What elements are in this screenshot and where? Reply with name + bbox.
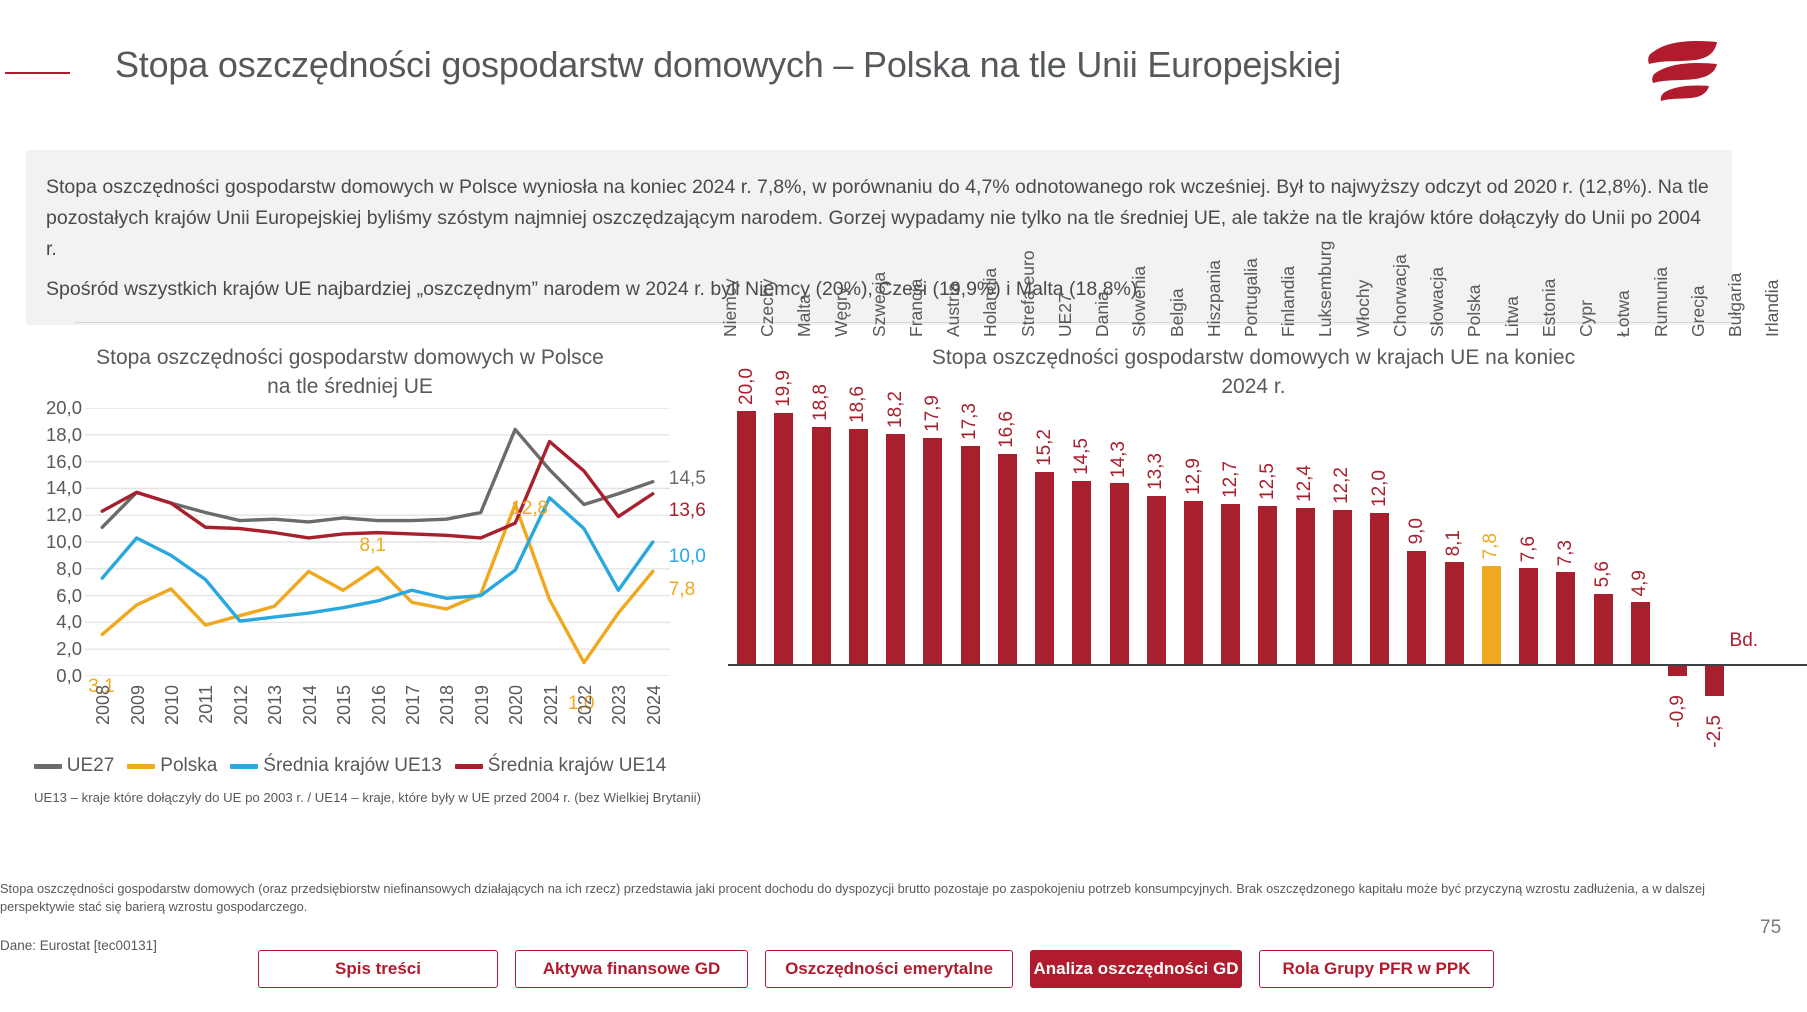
legend-item-0[interactable]: UE27 [34, 755, 115, 777]
bar-rect [1594, 594, 1613, 665]
right-x-tick-luksemburg: Luksemburg [1315, 241, 1336, 337]
right-x-tick-cypr: Cypr [1576, 300, 1597, 337]
bar-value-label: 7,3 [1555, 540, 1577, 566]
left-data-label-7-8: 7,8 [669, 579, 695, 601]
bar-rect [1258, 506, 1277, 664]
nav-button-analiza-oszczędności-gd[interactable]: Analiza oszczędności GD [1030, 950, 1242, 988]
nav-button-aktywa-finansowe-gd[interactable]: Aktywa finansowe GD [515, 950, 748, 988]
right-x-tick-grecja: Grecja [1688, 285, 1709, 337]
legend-item-2[interactable]: Średnia krajów UE13 [230, 755, 441, 777]
right-x-tick-włochy: Włochy [1353, 280, 1374, 337]
bar-rect [1668, 664, 1687, 675]
left-chart-y-axis: 20,018,016,014,012,010,08,06,04,02,00,0 [20, 398, 82, 688]
left-y-tick-8-0: 8,0 [56, 558, 82, 580]
right-x-tick-portugalia: Portugalia [1241, 258, 1262, 337]
left-x-tick-2022: 2022 [575, 685, 596, 725]
right-x-tick-holandia: Holandia [980, 268, 1001, 337]
left-x-tick-2023: 2023 [609, 685, 630, 725]
bar-rect [1556, 572, 1575, 664]
right-x-tick-niemcy: Niemcy [720, 279, 741, 337]
left-x-tick-2018: 2018 [437, 685, 458, 725]
left-y-tick-18-0: 18,0 [46, 424, 82, 446]
left-x-tick-2015: 2015 [334, 685, 355, 725]
bar-rect [1445, 562, 1464, 665]
right-x-tick-dania: Dania [1092, 291, 1113, 337]
left-y-tick-12-0: 12,0 [46, 504, 82, 526]
summary-paragraph-1: Stopa oszczędności gospodarstw domowych … [46, 172, 1716, 265]
right-x-tick-słowenia: Słowenia [1129, 266, 1150, 337]
right-x-tick-estonia: Estonia [1539, 279, 1560, 337]
bar-value-label: 8,1 [1443, 530, 1465, 556]
bar-chart-eu-countries: Stopa oszczędności gospodarstw domowych … [700, 335, 1807, 805]
left-y-tick-16-0: 16,0 [46, 451, 82, 473]
right-x-tick-austria: Austria [943, 283, 964, 337]
bar-rect [961, 446, 980, 665]
bar-value-label: -2,5 [1704, 715, 1726, 748]
right-x-tick-łotwa: Łotwa [1613, 290, 1634, 337]
left-x-tick-2013: 2013 [265, 685, 286, 725]
bar-value-label: 12,7 [1220, 461, 1242, 498]
left-y-tick-4-0: 4,0 [56, 611, 82, 633]
source-note: Dane: Eurostat [tec00131] [0, 938, 157, 953]
left-x-tick-2014: 2014 [300, 685, 321, 725]
left-chart-title: Stopa oszczędności gospodarstw domowych … [0, 335, 700, 401]
left-x-tick-2024: 2024 [644, 685, 665, 725]
nav-button-spis-treści[interactable]: Spis treści [258, 950, 498, 988]
right-chart-no-data-label: Bd. [1730, 630, 1759, 652]
bar-rect [1110, 483, 1129, 664]
left-x-tick-2011: 2011 [196, 685, 217, 724]
right-x-tick-słowacja: Słowacja [1427, 267, 1448, 337]
right-x-tick-litwa: Litwa [1502, 296, 1523, 337]
right-x-tick-węgry: Węgry [831, 286, 852, 337]
right-x-tick-francja: Francja [906, 279, 927, 337]
left-x-tick-2020: 2020 [506, 685, 527, 725]
right-x-tick-ue27: UE27 [1055, 293, 1076, 337]
left-x-tick-2019: 2019 [472, 685, 493, 725]
legend-swatch-icon [455, 764, 483, 769]
bar-value-label: 12,2 [1331, 467, 1353, 504]
legend-item-3[interactable]: Średnia krajów UE14 [455, 755, 666, 777]
summary-divider [74, 322, 1734, 323]
right-x-tick-szwecja: Szwecja [869, 272, 890, 337]
bar-rect [1035, 472, 1054, 664]
page-number: 75 [1760, 917, 1781, 939]
bar-rect [1407, 551, 1426, 665]
right-x-tick-irlandia: Irlandia [1762, 280, 1783, 337]
bar-value-label: 5,6 [1592, 561, 1614, 587]
bottom-navigation: Spis treściAktywa finansowe GDOszczędnoś… [258, 950, 1548, 988]
left-chart-footnote: UE13 – kraje które dołączyły do UE po 20… [34, 790, 714, 805]
legend-item-1[interactable]: Polska [127, 755, 217, 777]
bar-value-label: 7,8 [1480, 533, 1502, 559]
right-x-tick-czechy: Czechy [757, 279, 778, 337]
bar-rect [1631, 602, 1650, 664]
legend-label: Polska [160, 755, 217, 777]
left-data-label-8-1: 8,1 [360, 535, 386, 557]
page-header: Stopa oszczędności gospodarstw domowych … [0, 0, 1807, 140]
left-x-tick-2010: 2010 [162, 685, 183, 725]
bar-rect [1184, 501, 1203, 664]
bar-value-label: 12,5 [1257, 463, 1279, 500]
left-x-tick-2008: 2008 [93, 685, 114, 725]
bar-value-label: 9,0 [1406, 518, 1428, 544]
left-chart-legend: UE27PolskaŚrednia krajów UE13Średnia kra… [0, 755, 700, 777]
left-y-tick-6-0: 6,0 [56, 585, 82, 607]
right-chart-zero-axis [728, 664, 1807, 666]
left-chart-plot-area: 3,18,112,81,07,814,513,610,0 [85, 408, 670, 676]
bar-rect [1296, 508, 1315, 665]
bar-value-label: -0,9 [1667, 695, 1689, 728]
right-x-tick-belgia: Belgia [1167, 288, 1188, 337]
left-chart-x-axis: 2008200920102011201220132014201520162017… [85, 683, 670, 759]
right-x-tick-strefa-euro: Strefa euro [1018, 250, 1039, 337]
right-chart-x-axis: NiemcyCzechyMaltaWęgrySzwecjaFrancjaAust… [714, 335, 1807, 465]
left-y-tick-14-0: 14,0 [46, 477, 82, 499]
bar-rect [1482, 566, 1501, 665]
bar-rect [1333, 510, 1352, 664]
right-x-tick-hiszpania: Hiszpania [1204, 260, 1225, 337]
bar-rect [1072, 481, 1091, 665]
bar-rect [1519, 568, 1538, 664]
bar-rect [1221, 504, 1240, 665]
left-y-tick-0-0: 0,0 [56, 665, 82, 687]
left-x-tick-2012: 2012 [231, 685, 252, 725]
bar-value-label: 12,0 [1369, 470, 1391, 507]
right-x-tick-polska: Polska [1464, 284, 1485, 337]
legend-swatch-icon [230, 764, 258, 769]
right-x-tick-finlandia: Finlandia [1278, 266, 1299, 337]
bar-rect [886, 434, 905, 664]
left-y-tick-10-0: 10,0 [46, 531, 82, 553]
nav-button-oszczędności-emerytalne[interactable]: Oszczędności emerytalne [765, 950, 1013, 988]
bar-rect [1147, 496, 1166, 664]
left-x-tick-2021: 2021 [541, 685, 562, 725]
legend-label: UE27 [67, 755, 115, 777]
bar-value-label: 4,9 [1629, 570, 1651, 596]
right-x-tick-bułgaria: Bułgaria [1725, 273, 1746, 337]
page-title: Stopa oszczędności gospodarstw domowych … [115, 44, 1341, 86]
left-x-tick-2016: 2016 [369, 685, 390, 725]
bar-rect [1370, 513, 1389, 665]
nav-button-rola-grupy-pfr-w-ppk[interactable]: Rola Grupy PFR w PPK [1259, 950, 1494, 988]
legend-swatch-icon [127, 764, 155, 769]
methodology-footnote: Stopa oszczędności gospodarstw domowych … [0, 880, 1730, 916]
left-y-tick-20-0: 20,0 [46, 397, 82, 419]
title-accent-rule [5, 72, 70, 74]
bar-rect [998, 454, 1017, 664]
bar-rect [1705, 664, 1724, 696]
bar-value-label: 7,6 [1518, 536, 1540, 562]
left-x-tick-2009: 2009 [128, 685, 149, 725]
legend-swatch-icon [34, 764, 62, 769]
left-data-label-12-8: 12,8 [511, 498, 548, 520]
legend-label: Średnia krajów UE13 [263, 755, 441, 777]
line-chart-poland-vs-eu: Stopa oszczędności gospodarstw domowych … [0, 335, 700, 805]
bar-rect [923, 438, 942, 665]
right-x-tick-rumunia: Rumunia [1651, 267, 1672, 337]
left-x-tick-2017: 2017 [403, 685, 424, 725]
right-x-tick-malta: Malta [794, 294, 815, 337]
legend-label: Średnia krajów UE14 [488, 755, 666, 777]
pfr-logo-icon [1645, 38, 1725, 104]
bar-value-label: 12,4 [1294, 465, 1316, 502]
left-y-tick-2-0: 2,0 [56, 638, 82, 660]
right-x-tick-chorwacja: Chorwacja [1390, 254, 1411, 337]
